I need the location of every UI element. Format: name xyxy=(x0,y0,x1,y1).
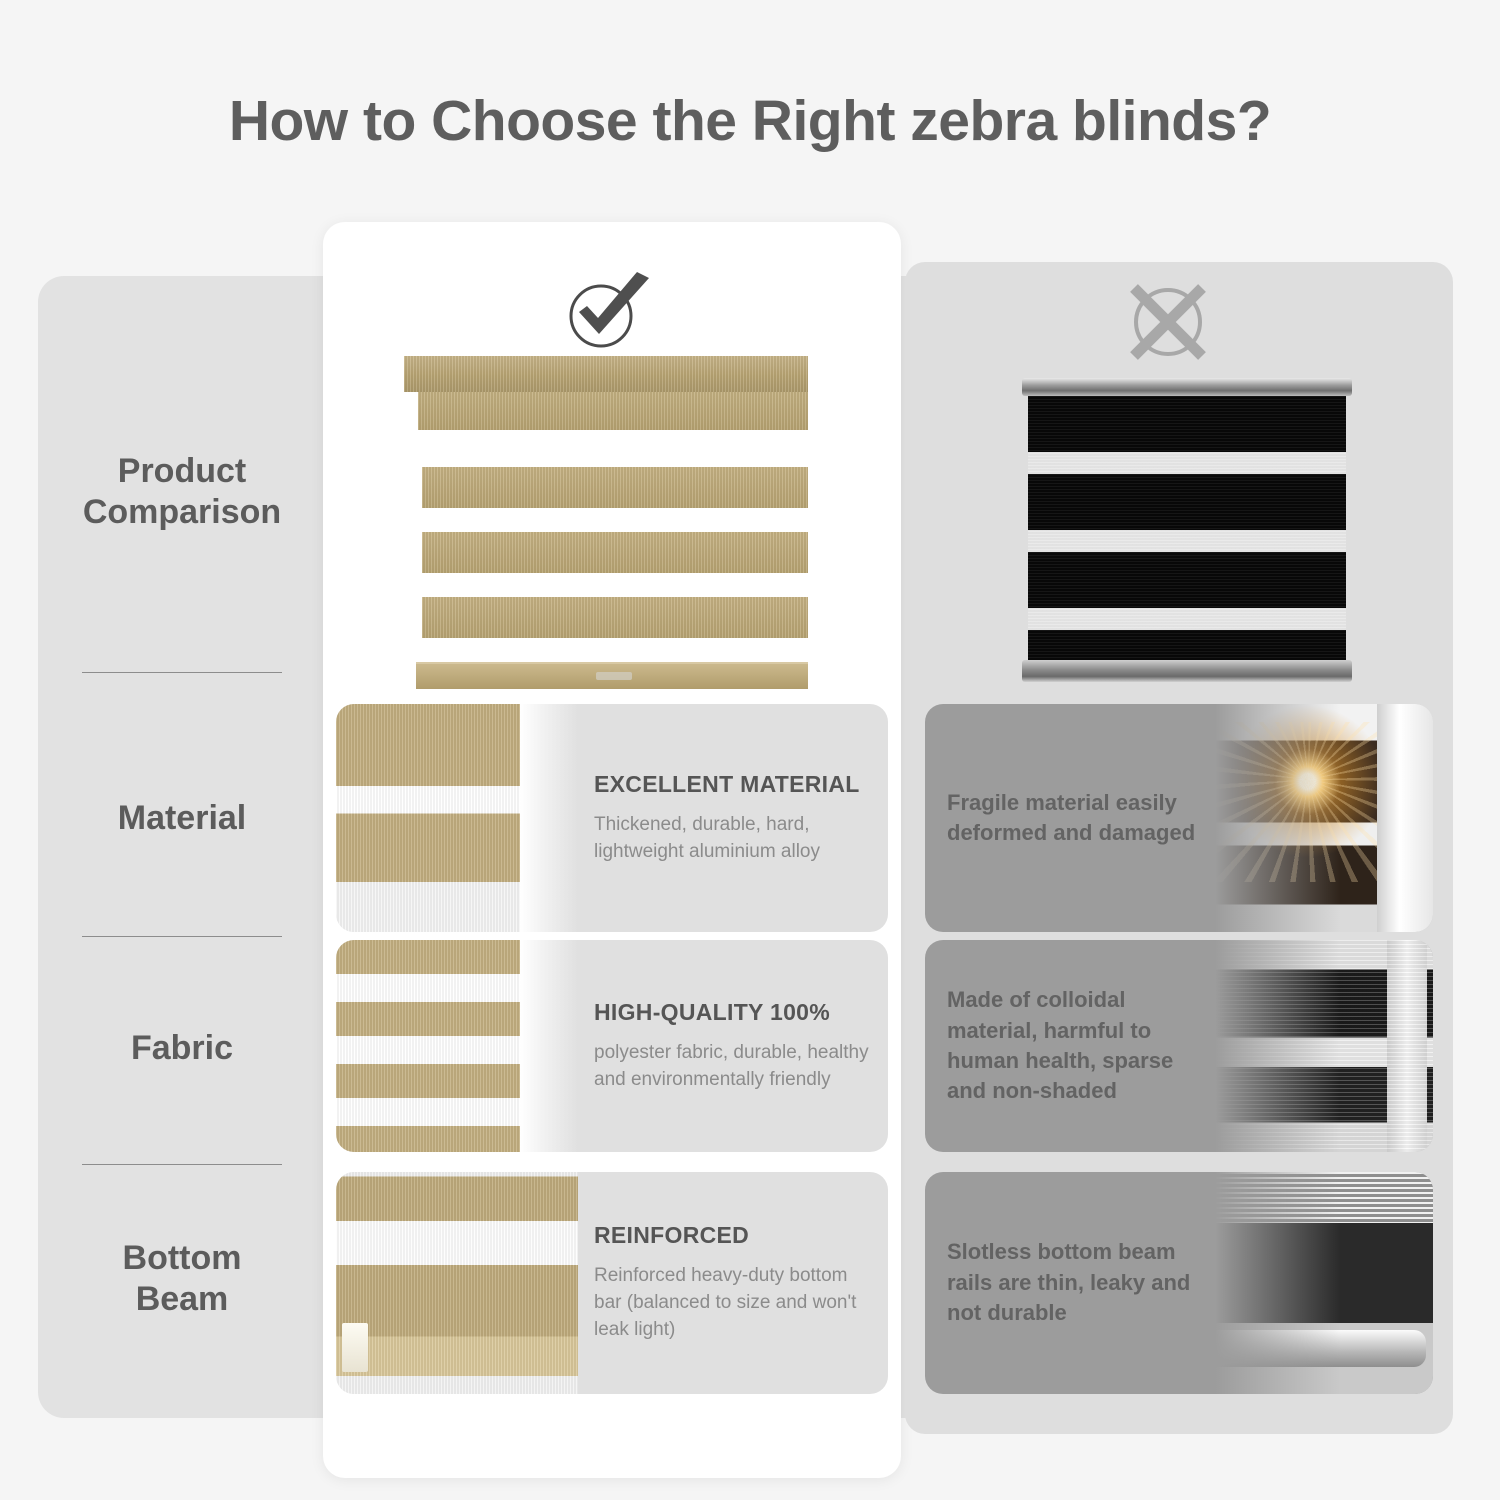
row-label-line2: Beam xyxy=(38,1279,326,1320)
row-label-line1: Fabric xyxy=(38,1028,326,1069)
row-divider-2 xyxy=(82,936,282,937)
bad-feature-card-bottom-beam: Slotless bottom beam rails are thin, lea… xyxy=(925,1172,1433,1394)
window-frame-edge xyxy=(520,940,578,1152)
bad-bottom-rail xyxy=(1022,660,1352,682)
good-feature-image-material xyxy=(336,704,578,932)
good-bottom-clip xyxy=(596,672,632,680)
bad-feature-text-material: Fragile material easily deformed and dam… xyxy=(947,704,1212,932)
good-feature-heading: HIGH-QUALITY 100% xyxy=(594,999,872,1026)
row-label-column: Product Comparison Material Fabric Botto… xyxy=(38,276,326,1418)
bad-headrail xyxy=(1022,378,1352,396)
good-feature-heading: REINFORCED xyxy=(594,1222,872,1249)
cross-circle-icon xyxy=(1122,280,1214,364)
row-label-line1: Material xyxy=(38,798,326,839)
good-feature-text-material: EXCELLENT MATERIAL Thickened, durable, h… xyxy=(594,704,872,932)
good-bottom-bar xyxy=(416,662,808,689)
good-slat-2 xyxy=(422,532,808,573)
good-headrail xyxy=(404,356,808,392)
page-title: How to Choose the Right zebra blinds? xyxy=(0,88,1500,154)
good-feature-card-bottom-beam: REINFORCED Reinforced heavy-duty bottom … xyxy=(336,1172,888,1394)
bad-feature-text-bottom-beam: Slotless bottom beam rails are thin, lea… xyxy=(947,1172,1212,1394)
good-feature-text-fabric: HIGH-QUALITY 100% polyester fabric, dura… xyxy=(594,940,872,1152)
row-label-line2: Comparison xyxy=(38,492,326,533)
good-feature-body: Reinforced heavy-duty bottom bar (balanc… xyxy=(594,1263,872,1344)
row-label-material: Material xyxy=(38,798,326,839)
good-slat-1 xyxy=(422,467,808,508)
row-label-line1: Bottom xyxy=(38,1238,326,1279)
good-feature-heading: EXCELLENT MATERIAL xyxy=(594,771,872,798)
good-hero-product-image xyxy=(404,356,808,696)
good-feature-text-bottom-beam: REINFORCED Reinforced heavy-duty bottom … xyxy=(594,1172,872,1394)
good-slat-3 xyxy=(422,597,808,638)
tan-blind-bottom-beam-icon xyxy=(336,1172,578,1394)
check-circle-icon xyxy=(557,268,657,352)
infographic-page: How to Choose the Right zebra blinds? Pr… xyxy=(0,0,1500,1500)
good-feature-image-fabric xyxy=(336,940,578,1152)
bad-hero-product-image xyxy=(1022,378,1352,678)
bad-feature-card-fabric: Made of colloidal material, harmful to h… xyxy=(925,940,1433,1152)
row-label-bottom-beam: Bottom Beam xyxy=(38,1238,326,1320)
row-divider-3 xyxy=(82,1164,282,1165)
bad-feature-text-fabric: Made of colloidal material, harmful to h… xyxy=(947,940,1212,1152)
good-feature-body: Thickened, durable, hard, lightweight al… xyxy=(594,812,872,866)
good-feature-card-fabric: HIGH-QUALITY 100% polyester fabric, dura… xyxy=(336,940,888,1152)
good-feature-image-bottom-beam xyxy=(336,1172,578,1394)
bottom-bar-endcap xyxy=(342,1323,368,1372)
bad-feature-card-material: Fragile material easily deformed and dam… xyxy=(925,704,1433,932)
bad-zebra-fabric xyxy=(1028,396,1346,662)
good-feature-body: polyester fabric, durable, healthy and e… xyxy=(594,1040,872,1094)
row-label-product-comparison: Product Comparison xyxy=(38,451,326,533)
row-label-fabric: Fabric xyxy=(38,1028,326,1069)
row-label-line1: Product xyxy=(38,451,326,492)
window-frame-edge xyxy=(520,704,578,932)
good-top-slat xyxy=(418,392,808,430)
row-divider-1 xyxy=(82,672,282,673)
good-feature-card-material: EXCELLENT MATERIAL Thickened, durable, h… xyxy=(336,704,888,932)
